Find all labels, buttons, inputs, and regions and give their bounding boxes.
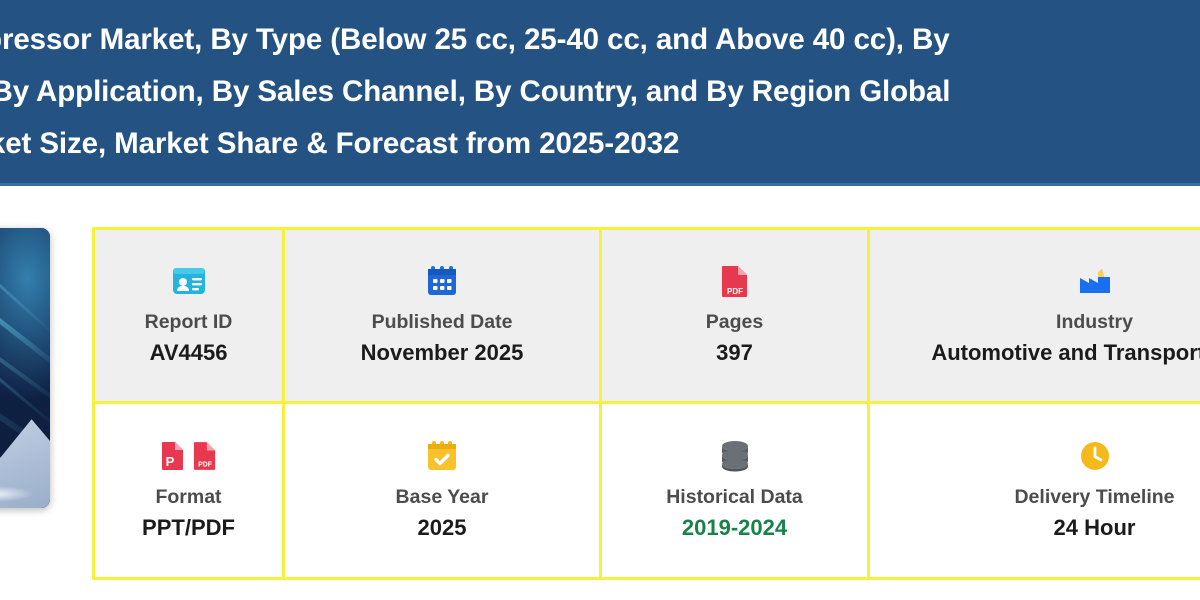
calendar-check-icon — [427, 436, 457, 476]
ppt-pdf-files-icon: P PDF — [161, 436, 217, 476]
info-label: Delivery Timeline — [1014, 486, 1174, 508]
page-header-banner: Scroll E-Compressor Market, By Type (Bel… — [0, 0, 1200, 186]
info-cell-report-id: Report ID AV4456 — [95, 230, 285, 404]
info-label: Base Year — [396, 486, 489, 508]
info-label: Published Date — [372, 311, 513, 333]
info-cell-historical-data: Historical Data 2019-2024 — [602, 404, 870, 578]
info-value: Automotive and Transportation — [931, 340, 1200, 365]
info-value: AV4456 — [150, 340, 228, 365]
clock-icon — [1080, 436, 1110, 476]
info-value: PPT/PDF — [142, 515, 235, 540]
info-label: Report ID — [145, 311, 233, 333]
info-cell-base-year: Base Year 2025 — [285, 404, 602, 578]
info-label: Format — [155, 486, 221, 508]
info-label: Industry — [1056, 311, 1133, 333]
svg-text:PDF: PDF — [727, 287, 743, 296]
info-cell-format: P PDF Format PPT/PDF — [95, 404, 285, 578]
info-cell-delivery-timeline: Delivery Timeline 24 Hour — [870, 404, 1200, 578]
report-cover-thumbnail[interactable]: ch — [0, 228, 50, 508]
report-meta-grid: Report ID AV4456 Published Date — [92, 227, 1200, 580]
svg-text:P: P — [165, 454, 174, 469]
info-cell-industry: Industry Automotive and Transportation — [870, 230, 1200, 404]
info-value: 397 — [716, 340, 753, 365]
info-label: Historical Data — [666, 486, 803, 508]
info-value: 2019-2024 — [682, 515, 787, 540]
svg-text:PDF: PDF — [198, 462, 212, 469]
info-value: November 2025 — [361, 340, 524, 365]
info-value: 2025 — [418, 515, 467, 540]
factory-icon — [1078, 261, 1112, 301]
pdf-file-icon: PDF — [721, 261, 749, 301]
info-cell-pages: PDF Pages 397 — [602, 230, 870, 404]
id-card-icon — [172, 261, 206, 301]
info-cell-published-date: Published Date November 2025 — [285, 230, 602, 404]
info-label: Pages — [706, 311, 763, 333]
calendar-icon — [427, 261, 457, 301]
info-value: 24 Hour — [1054, 515, 1136, 540]
page-title: Scroll E-Compressor Market, By Type (Bel… — [0, 14, 1200, 170]
database-icon — [720, 436, 750, 476]
